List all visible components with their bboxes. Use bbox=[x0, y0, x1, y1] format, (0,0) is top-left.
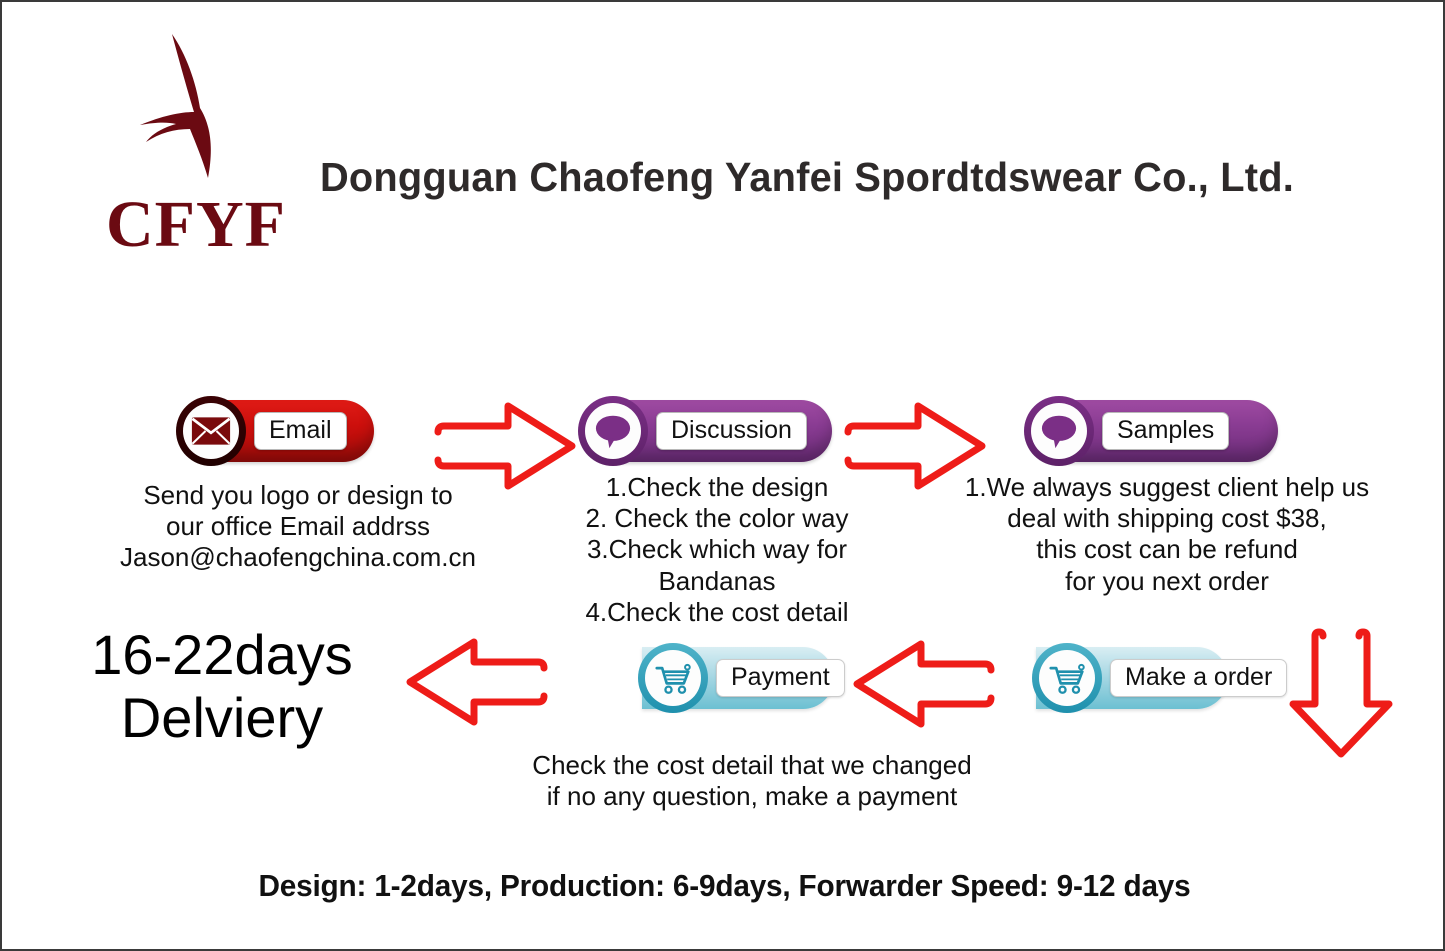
arrow-samples-to-make-a-order bbox=[1285, 628, 1397, 765]
step-badge-label-payment: Payment bbox=[716, 659, 845, 698]
step-body-line: 4.Check the cost detail bbox=[537, 597, 897, 628]
step-badge-discussion[interactable]: Discussion bbox=[582, 400, 832, 462]
step-badge-email[interactable]: Email bbox=[180, 400, 374, 462]
step-body-line: 3.Check which way for Bandanas bbox=[537, 534, 897, 596]
step-body-line: deal with shipping cost $38, bbox=[952, 503, 1382, 534]
step-body-line: if no any question, make a payment bbox=[502, 781, 1002, 812]
company-title: Dongguan Chaofeng Yanfei Spordtdswear Co… bbox=[320, 154, 1294, 201]
step-body-payment: Check the cost detail that we changed if… bbox=[502, 750, 1002, 812]
step-body-line: this cost can be refund bbox=[952, 534, 1382, 565]
speech-bubble-icon bbox=[1024, 396, 1094, 466]
step-body-line: our office Email addrss bbox=[98, 511, 498, 542]
flyer-page: CFYF Dongguan Chaofeng Yanfei Spordtdswe… bbox=[0, 0, 1445, 951]
shopping-cart-icon bbox=[1032, 643, 1102, 713]
delivery-time-result: 16-22days Delviery bbox=[42, 624, 402, 749]
step-badge-payment[interactable]: Payment bbox=[642, 647, 834, 709]
arrow-make-a-order-to-payment bbox=[847, 636, 997, 737]
footer-summary: Design: 1-2days, Production: 6-9days, Fo… bbox=[31, 868, 1418, 904]
step-badge-label-email: Email bbox=[254, 412, 347, 451]
speech-bubble-icon bbox=[578, 396, 648, 466]
step-badge-make-a-order[interactable]: Make a order bbox=[1036, 647, 1228, 709]
header: CFYF Dongguan Chaofeng Yanfei Spordtdswe… bbox=[2, 2, 1445, 292]
step-body-line: for you next order bbox=[952, 566, 1382, 597]
step-body-line: 2. Check the color way bbox=[537, 503, 897, 534]
step-badge-label-discussion: Discussion bbox=[656, 412, 807, 451]
envelope-icon bbox=[176, 396, 246, 466]
delivery-line-2: Delviery bbox=[42, 687, 402, 750]
step-body-samples: 1.We always suggest client help us deal … bbox=[952, 472, 1382, 597]
arrow-payment-to-delivery bbox=[400, 634, 550, 735]
step-body-line: Jason@chaofengchina.com.cn bbox=[98, 542, 498, 573]
shopping-cart-icon bbox=[638, 643, 708, 713]
swallow-bird-logo-icon bbox=[110, 26, 290, 186]
step-body-line: 1.We always suggest client help us bbox=[952, 472, 1382, 503]
delivery-line-1: 16-22days bbox=[42, 624, 402, 687]
step-badge-samples[interactable]: Samples bbox=[1028, 400, 1278, 462]
step-badge-label-samples: Samples bbox=[1102, 412, 1229, 451]
logo-wordmark: CFYF bbox=[106, 192, 286, 258]
step-badge-label-make-a-order: Make a order bbox=[1110, 659, 1287, 698]
step-body-line: Check the cost detail that we changed bbox=[502, 750, 1002, 781]
